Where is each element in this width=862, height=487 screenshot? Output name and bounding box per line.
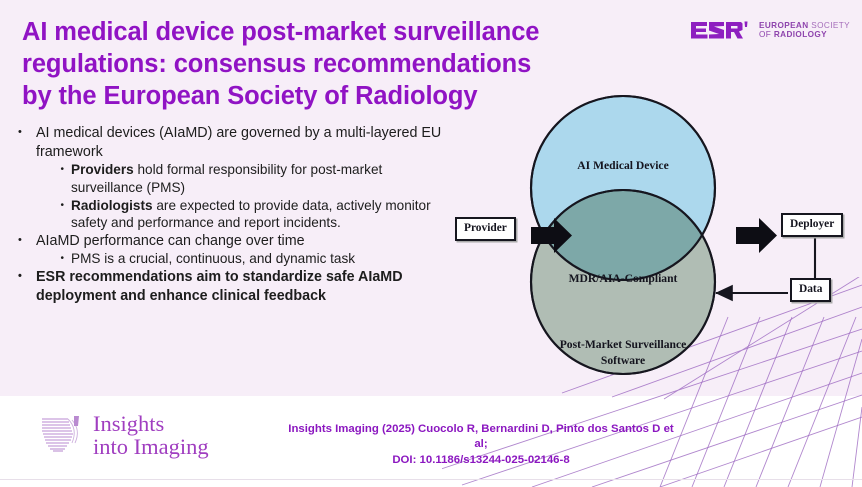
esr-text-european: EUROPEAN bbox=[759, 21, 809, 30]
esr-wordmark-icon bbox=[689, 19, 752, 41]
journal-name-line-1: Insights bbox=[93, 412, 209, 435]
bullet-item: • Providers hold formal responsibility f… bbox=[14, 161, 444, 196]
bullet-text: AI medical devices (AIaMD) are governed … bbox=[36, 124, 444, 161]
node-provider: Provider bbox=[455, 217, 516, 241]
slide-root: AI medical device post-market surveillan… bbox=[0, 0, 862, 487]
bullet-marker: • bbox=[14, 124, 36, 142]
arrow-device-to-deployer bbox=[736, 218, 777, 253]
esr-text-society: SOCIETY bbox=[811, 21, 850, 30]
bullet-text: Providers hold formal responsibility for… bbox=[71, 161, 444, 196]
footer-divider bbox=[0, 479, 862, 480]
journal-name-line-2: into Imaging bbox=[93, 435, 209, 458]
bullet-marker: • bbox=[14, 268, 36, 286]
insights-into-imaging-wordmark: Insights into Imaging bbox=[93, 412, 209, 459]
bullet-text: PMS is a crucial, continuous, and dynami… bbox=[71, 250, 444, 268]
esr-logo-text: EUROPEAN SOCIETY OF RADIOLOGY bbox=[759, 21, 850, 39]
bullet-item: • Radiologists are expected to provide d… bbox=[14, 197, 444, 232]
insights-into-imaging-logo: Insights into Imaging bbox=[38, 412, 209, 459]
bullet-list: • AI medical devices (AIaMD) are governe… bbox=[14, 124, 444, 305]
esr-text-of: OF bbox=[759, 30, 771, 39]
venn-diagram: AI Medical Device MDR/AIA-Compliant Post… bbox=[448, 60, 862, 380]
citation-block: Insights Imaging (2025) Cuocolo R, Berna… bbox=[281, 422, 681, 468]
bullet-item: • AIaMD performance can change over time bbox=[14, 232, 444, 251]
venn-label-ai-medical-device: AI Medical Device bbox=[508, 159, 738, 172]
node-data: Data bbox=[790, 278, 831, 302]
bullet-text: Radiologists are expected to provide dat… bbox=[71, 197, 444, 232]
bullet-marker: • bbox=[14, 232, 36, 250]
venn-label-pms-software: Post-Market Surveillance Software bbox=[493, 337, 753, 368]
bullet-lead: Radiologists bbox=[71, 198, 153, 213]
insights-into-imaging-mark-icon bbox=[38, 413, 84, 457]
slide-title-line-1: AI medical device post-market surveillan… bbox=[22, 16, 612, 48]
bullet-marker: • bbox=[42, 161, 71, 178]
bullet-text: AIaMD performance can change over time bbox=[36, 232, 444, 251]
bullet-lead: Providers bbox=[71, 162, 134, 177]
citation-line-2: DOI: 10.1186/s13244-025-02146-8 bbox=[281, 453, 681, 468]
citation-line-1: Insights Imaging (2025) Cuocolo R, Berna… bbox=[281, 422, 681, 453]
bullet-text: ESR recommendations aim to standardize s… bbox=[36, 268, 444, 305]
esr-logo: EUROPEAN SOCIETY OF RADIOLOGY bbox=[689, 19, 850, 41]
venn-label-intersection: MDR/AIA-Compliant bbox=[508, 272, 738, 285]
bullet-item: • AI medical devices (AIaMD) are governe… bbox=[14, 124, 444, 161]
bullet-item: • PMS is a crucial, continuous, and dyna… bbox=[14, 250, 444, 268]
bullet-marker: • bbox=[42, 250, 71, 267]
bullet-marker: • bbox=[42, 197, 71, 214]
node-deployer: Deployer bbox=[781, 213, 843, 237]
bullet-item: • ESR recommendations aim to standardize… bbox=[14, 268, 444, 305]
esr-text-radiology: RADIOLOGY bbox=[774, 30, 827, 39]
